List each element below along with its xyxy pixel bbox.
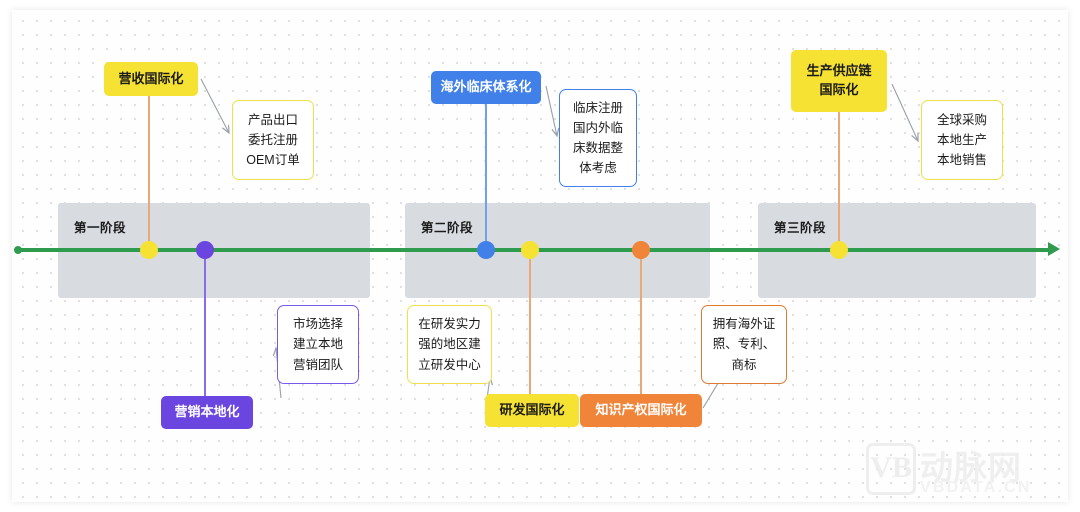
timeline-arrow-icon	[1048, 242, 1060, 256]
stem-marketing-local	[204, 251, 206, 397]
phase-label-2: 第二阶段	[421, 217, 473, 236]
callout-line: 建立本地	[293, 334, 343, 354]
phase-label-3: 第三阶段	[774, 217, 826, 236]
callout-line: 立研发中心	[418, 355, 481, 375]
stem-supply-chain-intl	[838, 112, 840, 251]
node-supply-chain-intl[interactable]: 生产供应链 国际化	[791, 50, 887, 112]
milestone-dot-revenue-intl[interactable]	[140, 241, 158, 259]
milestone-dot-supply-chain-intl[interactable]	[830, 241, 848, 259]
milestone-dot-ip-intl[interactable]	[632, 241, 650, 259]
callout-line: 国内外临	[573, 118, 623, 138]
callout-line: 市场选择	[293, 314, 343, 334]
phase-label-1: 第一阶段	[74, 217, 126, 236]
callout-line: 床数据整	[573, 138, 623, 158]
stem-rnd-intl	[529, 251, 531, 395]
stem-revenue-intl	[148, 96, 150, 251]
stem-overseas-clinical	[485, 104, 487, 251]
callout-line: 强的地区建	[418, 334, 481, 354]
callout-line: 在研发实力	[418, 314, 481, 334]
callout-line: 体考虑	[579, 158, 617, 178]
watermark-logo-icon: VB	[866, 443, 916, 495]
node-supply-chain-line-2: 国际化	[819, 81, 858, 100]
callout-overseas-clinical: 临床注册 国内外临 床数据整 体考虑	[559, 89, 637, 187]
callout-line: 拥有海外证	[713, 314, 776, 334]
node-supply-chain-line-1: 生产供应链	[806, 62, 871, 81]
callout-line: 产品出口	[248, 110, 298, 130]
callout-rnd-intl: 在研发实力 强的地区建 立研发中心	[407, 305, 492, 384]
callout-line: 全球采购	[937, 110, 987, 130]
node-rnd-intl[interactable]: 研发国际化	[485, 394, 579, 427]
node-revenue-intl[interactable]: 营收国际化	[104, 62, 198, 96]
callout-supply-chain-intl: 全球采购 本地生产 本地销售	[921, 100, 1003, 180]
node-overseas-clinical[interactable]: 海外临床体系化	[431, 71, 541, 104]
callout-line: 委托注册	[248, 130, 298, 150]
watermark: VB 动脉网 VBDATA.CN	[866, 443, 1056, 505]
callout-line: OEM订单	[246, 150, 299, 170]
callout-ip-intl: 拥有海外证 照、专利、 商标	[701, 305, 787, 384]
callout-line: 照、专利、	[713, 334, 776, 354]
callout-line: 本地生产	[937, 130, 987, 150]
diagram-stage: 第一阶段 第二阶段 第三阶段 营收国际	[0, 0, 1080, 512]
callout-marketing-local: 市场选择 建立本地 营销团队	[277, 305, 359, 384]
callout-line: 本地销售	[937, 150, 987, 170]
node-marketing-local[interactable]: 营销本地化	[161, 396, 253, 429]
callout-line: 营销团队	[293, 355, 343, 375]
callout-revenue-intl: 产品出口 委托注册 OEM订单	[232, 100, 314, 180]
callout-line: 商标	[731, 355, 756, 375]
milestone-dot-overseas-clinical[interactable]	[477, 241, 495, 259]
milestone-dot-marketing-local[interactable]	[196, 241, 214, 259]
stem-ip-intl	[640, 251, 642, 395]
node-ip-intl[interactable]: 知识产权国际化	[580, 394, 702, 427]
callout-line: 临床注册	[573, 98, 623, 118]
watermark-brand-en: VBDATA.CN	[920, 479, 1032, 497]
milestone-dot-rnd-intl[interactable]	[521, 241, 539, 259]
